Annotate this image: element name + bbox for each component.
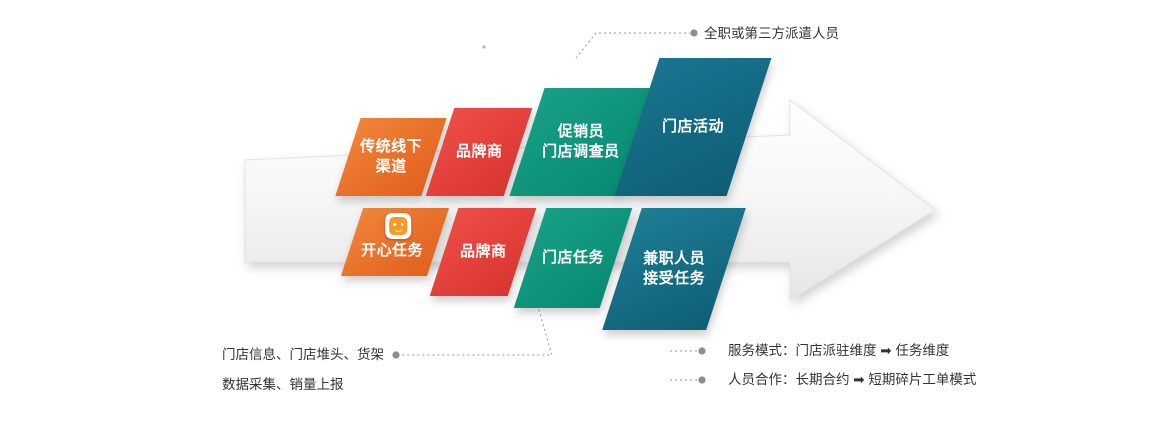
annotation-top-right: 全职或第三方派遣人员 xyxy=(704,21,839,47)
leader-line-bottom-left xyxy=(400,300,552,355)
bottom-tile-1-label: 开心任务 xyxy=(361,241,423,261)
top-tile-3-label: 促销员 门店调查员 xyxy=(542,122,620,162)
bottom-tile-4-label: 兼职人员 接受任务 xyxy=(643,249,705,289)
top-tile-1-label: 传统线下 渠道 xyxy=(360,137,422,177)
top-tile-2-label: 品牌商 xyxy=(456,142,503,162)
bottom-tile-3-label: 门店任务 xyxy=(542,248,604,268)
decorative-dot xyxy=(482,45,485,48)
annotation-bottom-left-line1: 门店信息、门店堆头、货架 xyxy=(222,342,384,368)
leader-dot-bottom-left xyxy=(392,351,399,358)
bottom-tile-2-label: 品牌商 xyxy=(460,242,507,262)
top-tile-4-label: 门店活动 xyxy=(662,117,724,137)
leader-dot-bottom-right-2 xyxy=(698,376,705,383)
annotation-bottom-right-line2: 人员合作：长期合约 ➡ 短期碎片工单模式 xyxy=(728,367,976,393)
annotation-bottom-left-line2: 数据采集、销量上报 xyxy=(222,372,344,398)
diagram-canvas: 传统线下 渠道 品牌商 促销员 门店调查员 门店活动 开心任务 品牌商 门店任务… xyxy=(0,0,1150,430)
leader-dot-bottom-right-1 xyxy=(698,347,705,354)
annotation-bottom-right-line1: 服务模式：门店派驻维度 ➡ 任务维度 xyxy=(728,338,949,364)
leader-dot-top-right xyxy=(690,29,697,36)
leader-line-top-right xyxy=(576,33,690,58)
smiley-app-icon xyxy=(385,213,411,239)
